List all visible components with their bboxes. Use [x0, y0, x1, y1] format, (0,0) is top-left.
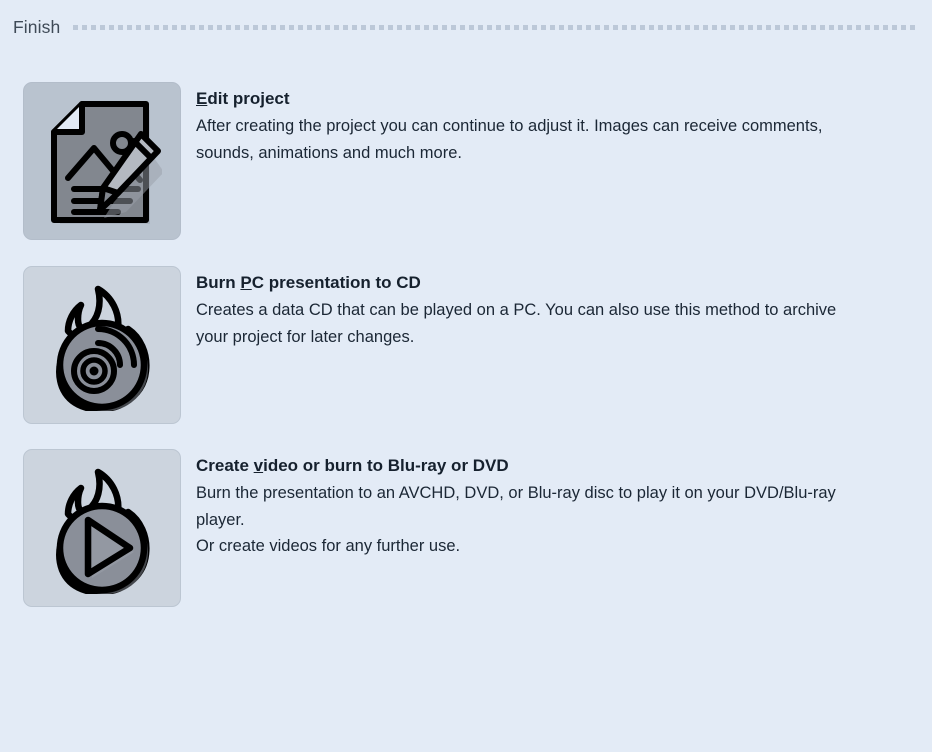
option-row-create-video[interactable]: Create video or burn to Blu-ray or DVD B… [0, 449, 932, 607]
create-video-title-rest: ideo or burn to Blu-ray or DVD [263, 456, 509, 475]
create-video-description: Burn the presentation to an AVCHD, DVD, … [196, 480, 856, 560]
burn-cd-icon [40, 279, 164, 411]
edit-project-icon [42, 96, 162, 226]
create-video-title: Create video or burn to Blu-ray or DVD [196, 455, 856, 477]
burn-cd-description: Creates a data CD that can be played on … [196, 297, 856, 350]
edit-project-icon-tile[interactable] [23, 82, 181, 240]
edit-project-description: After creating the project you can conti… [196, 113, 856, 166]
create-video-title-before: Create [196, 456, 254, 475]
page-title: Finish [13, 17, 60, 38]
burn-cd-title-before: Burn [196, 273, 240, 292]
option-row-edit-project[interactable]: Edit project After creating the project … [0, 82, 932, 240]
section-header: Finish [0, 0, 932, 54]
burn-cd-icon-tile[interactable] [23, 266, 181, 424]
option-row-burn-pc-presentation[interactable]: Burn PC presentation to CD Creates a dat… [0, 266, 932, 424]
edit-project-accelerator: E [196, 89, 207, 108]
burn-cd-title-rest: C presentation to CD [252, 273, 421, 292]
burn-cd-title: Burn PC presentation to CD [196, 272, 856, 294]
create-video-accelerator: v [254, 456, 263, 475]
burn-cd-accelerator: P [240, 273, 251, 292]
edit-project-text: Edit project After creating the project … [196, 82, 856, 166]
create-video-icon [40, 462, 164, 594]
option-list: Edit project After creating the project … [0, 54, 932, 607]
header-dotted-rule [73, 25, 918, 30]
edit-project-title: Edit project [196, 88, 856, 110]
create-video-icon-tile[interactable] [23, 449, 181, 607]
burn-cd-text: Burn PC presentation to CD Creates a dat… [196, 266, 856, 350]
create-video-text: Create video or burn to Blu-ray or DVD B… [196, 449, 856, 560]
edit-project-title-rest: dit project [207, 89, 289, 108]
